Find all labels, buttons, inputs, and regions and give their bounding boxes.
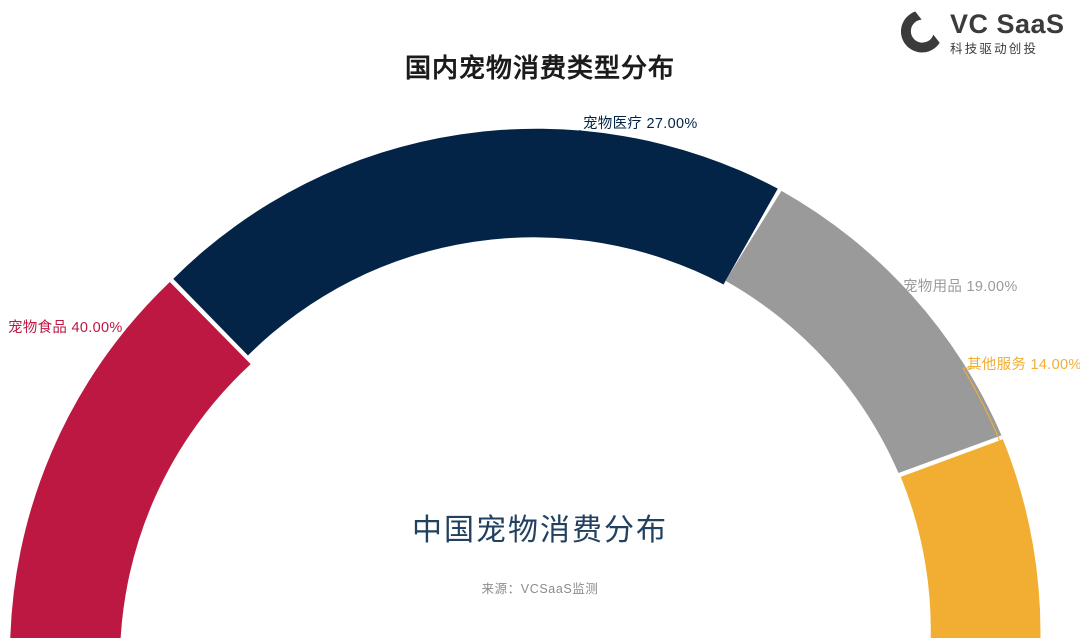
slice-pet-medical[interactable] (173, 129, 778, 356)
chart-source-note: 来源：VCSaaS监测 (0, 578, 1080, 597)
slice-label-pet-medical: 宠物医疗 27.00% (583, 112, 698, 133)
chart-slices (10, 129, 1040, 638)
slice-label-other-services: 其他服务 14.00% (967, 353, 1080, 374)
slice-label-pet-food: 宠物食品 40.00% (8, 316, 123, 337)
slice-pet-supplies[interactable] (725, 191, 1001, 473)
slice-label-pet-supplies: 宠物用品 19.00% (903, 275, 1018, 296)
chart-center-label: 中国宠物消费分布 (0, 505, 1080, 549)
chart-canvas: VC SaaS 科技驱动创投 国内宠物消费类型分布 宠物食品 40.00% 宠物… (0, 0, 1080, 638)
